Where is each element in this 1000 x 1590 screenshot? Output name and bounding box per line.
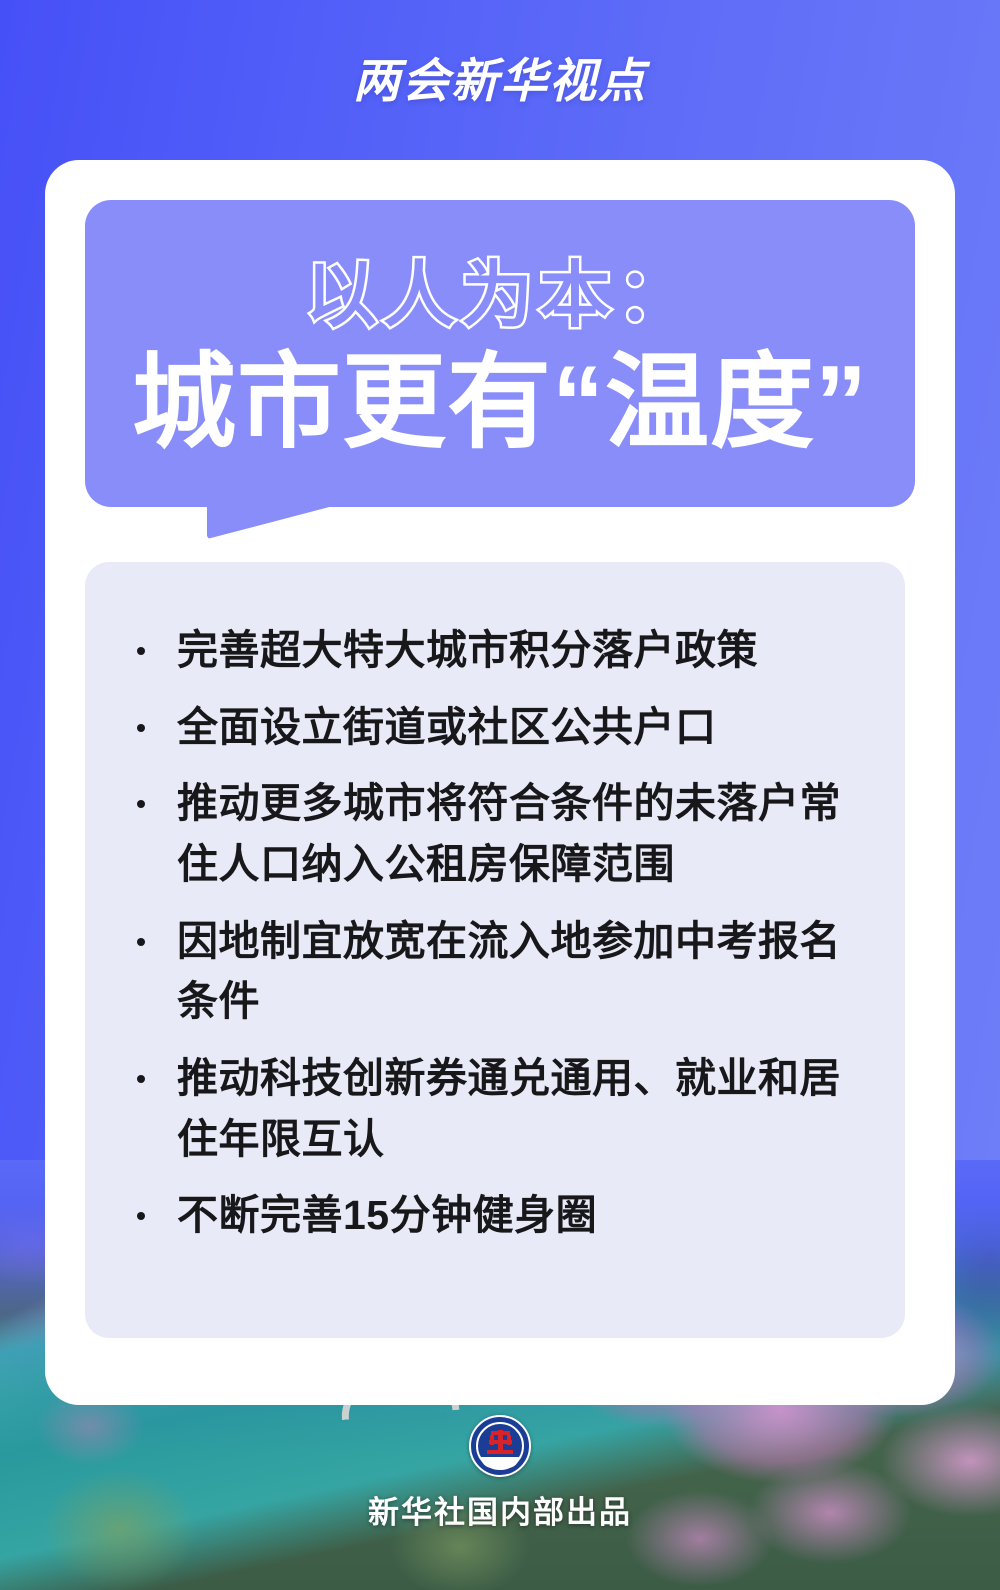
footer: 新华社国内部出品 <box>0 1415 1000 1532</box>
footer-credit: 新华社国内部出品 <box>0 1487 1000 1532</box>
list-item: 推动科技创新券通兑通用、就业和居住年限互认 <box>129 1048 869 1169</box>
list-item: 因地制宜放宽在流入地参加中考报名条件 <box>129 911 869 1032</box>
bullet-list: 完善超大特大城市积分落户政策 全面设立街道或社区公共户口 推动更多城市将符合条件… <box>129 620 869 1246</box>
xinhua-logo-icon <box>469 1415 531 1477</box>
list-item: 完善超大特大城市积分落户政策 <box>129 620 869 681</box>
poster-root: 两会新华视点 以人为本： 城市更有“温度” 完善超大特大城市积分落户政策 全面设… <box>0 0 1000 1590</box>
title-line-2: 城市更有“温度” <box>85 347 915 459</box>
list-item: 全面设立街道或社区公共户口 <box>129 697 869 758</box>
speech-bubble-tail <box>207 505 337 539</box>
logo-stroke-base <box>487 1450 513 1454</box>
logo-glyph <box>487 1430 513 1456</box>
list-item: 不断完善15分钟健身圈 <box>129 1185 869 1246</box>
header-title: 两会新华视点 <box>353 42 647 111</box>
header: 两会新华视点 <box>0 42 1000 111</box>
logo-band <box>481 1457 519 1468</box>
title-line-1: 以人为本： <box>85 236 915 341</box>
title-speech-bubble: 以人为本： 城市更有“温度” <box>85 200 915 507</box>
list-item: 推动更多城市将符合条件的未落户常住人口纳入公租房保障范围 <box>129 773 869 894</box>
bullet-panel: 完善超大特大城市积分落户政策 全面设立街道或社区公共户口 推动更多城市将符合条件… <box>85 562 905 1338</box>
